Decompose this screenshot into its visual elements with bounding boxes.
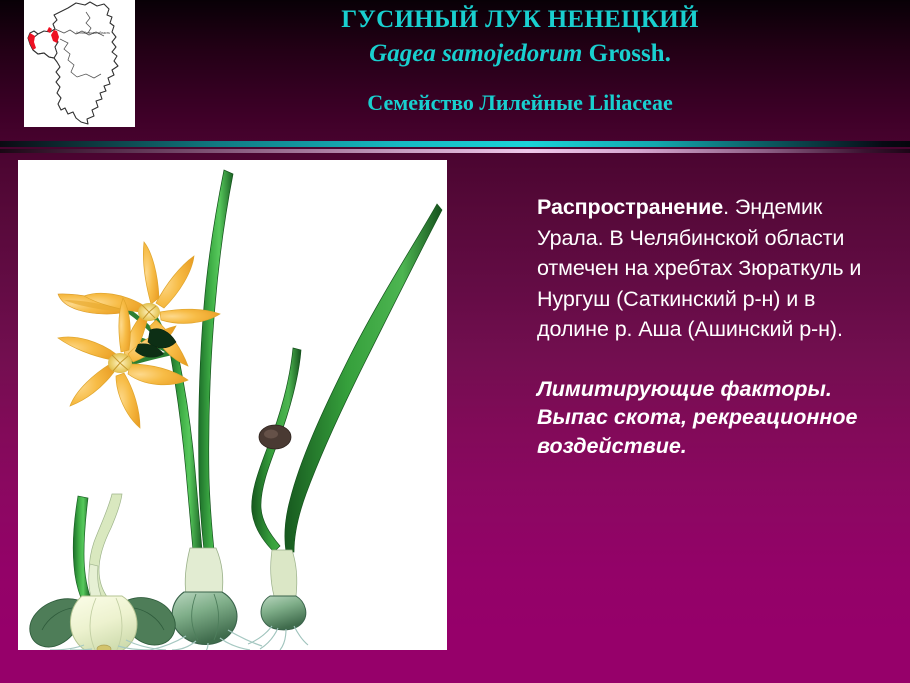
description-column: Распространение. Эндемик Урала. В Челяби… [537,192,882,460]
right-bulb [261,596,306,630]
slide-root: Челябинская область ГУСИНЫЙ ЛУК НЕНЕЦКИЙ… [0,0,910,683]
species-authority: Grossh. [589,40,671,67]
plant-illustration-svg [18,160,447,650]
distribution-heading: Распространение [537,195,723,219]
title-block: ГУСИНЫЙ ЛУК НЕНЕЦКИЙ Gagea samojedorum G… [150,0,890,114]
region-map-thumbnail: Челябинская область [24,0,135,127]
map-region-label: Челябинская область [76,31,110,35]
map-background [24,0,135,127]
plant-illustration-panel [18,160,447,650]
right-sheath [271,550,297,596]
distribution-paragraph: Распространение. Эндемик Урала. В Челяби… [537,192,882,345]
limiting-factors-paragraph: Лимитирующие факторы. Выпас скота, рекре… [537,375,882,461]
region-map-svg: Челябинская область [24,0,135,127]
left-bulb [70,596,137,650]
family-name: Семейство Лилейные Liliaceae [150,66,890,114]
divider-pink [0,149,910,153]
right-bulbil-highlight [264,430,278,439]
species-binomial: Gagea samojedorum [369,40,582,67]
middle-sheath [185,548,223,594]
page-title: ГУСИНЫЙ ЛУК НЕНЕЦКИЙ [150,0,890,32]
slide-header: Челябинская область ГУСИНЫЙ ЛУК НЕНЕЦКИЙ… [0,0,910,140]
left-bulb-basal-plate [97,645,111,650]
divider-cyan [0,141,910,147]
species-name: Gagea samojedorum Grossh. [150,32,890,66]
